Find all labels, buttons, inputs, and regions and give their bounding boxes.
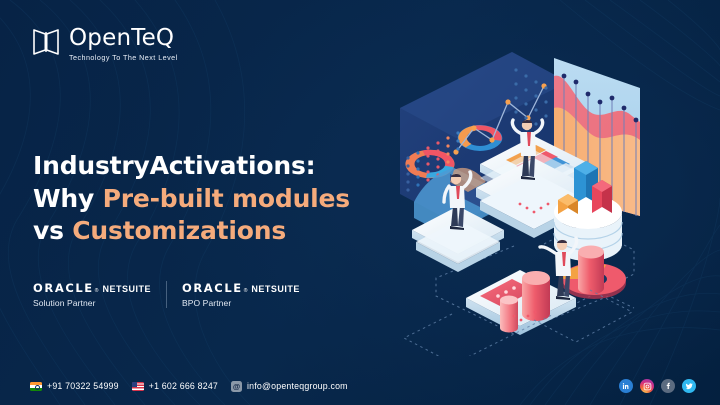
badge-divider	[166, 281, 167, 308]
logo-wordmark: OpenTeQ	[69, 26, 178, 50]
headline-block: IndustryActivations: Why Pre-built modul…	[33, 150, 350, 248]
cylinder-red-tall-back	[578, 246, 604, 295]
cylinder-small-red	[500, 296, 518, 333]
contact-usa[interactable]: +1 602 666 8247	[132, 381, 218, 391]
partner-badges: ORACLE ® NETSUITE Solution Partner ORACL…	[33, 281, 300, 308]
headline-line-1: IndustryActivations:	[33, 150, 350, 183]
contact-email[interactable]: @ info@openteqgroup.com	[231, 381, 348, 392]
headline-line-3: vs Customizations	[33, 215, 350, 248]
partner-badge-bpo: ORACLE ® NETSUITE BPO Partner	[182, 281, 300, 308]
netsuite-wordmark: NETSUITE	[102, 284, 151, 294]
usa-flag-icon	[132, 382, 144, 391]
registered-mark: ®	[244, 288, 248, 294]
lower-platform-group	[466, 246, 604, 336]
oracle-wordmark: ORACLE	[182, 281, 243, 295]
netsuite-wordmark: NETSUITE	[251, 284, 300, 294]
isometric-data-analytics-illustration	[394, 46, 720, 356]
phone-india: +91 70322 54999	[47, 381, 119, 391]
india-flag-icon	[30, 382, 42, 391]
contact-list: +91 70322 54999 +1 602 666 8247 @ info@o…	[30, 381, 348, 392]
partner-badge-solution: ORACLE ® NETSUITE Solution Partner	[33, 281, 151, 308]
oracle-wordmark: ORACLE	[33, 281, 94, 295]
cylinder-large-red	[522, 271, 550, 321]
headline-line-3-accent: Customizations	[72, 216, 286, 245]
linkedin-icon[interactable]	[619, 379, 633, 393]
slide-canvas: OpenTeQ Technology To The Next Level Ind…	[0, 0, 720, 405]
headline-line-3-plain: vs	[33, 216, 72, 245]
logo-tagline: Technology To The Next Level	[69, 53, 178, 62]
badge-logo-row: ORACLE ® NETSUITE	[33, 281, 151, 295]
twitter-icon[interactable]	[682, 379, 696, 393]
badge-subtitle: BPO Partner	[182, 298, 300, 308]
registered-mark: ®	[95, 288, 99, 294]
badge-logo-row: ORACLE ® NETSUITE	[182, 281, 300, 295]
headline-line-2: Why Pre-built modules	[33, 183, 350, 216]
contact-india[interactable]: +91 70322 54999	[30, 381, 119, 391]
openteq-logo[interactable]: OpenTeQ Technology To The Next Level	[32, 26, 178, 62]
footer-bar: +91 70322 54999 +1 602 666 8247 @ info@o…	[0, 367, 720, 405]
instagram-icon[interactable]	[640, 379, 654, 393]
headline-line-2-accent: Pre-built modules	[103, 184, 350, 213]
phone-usa: +1 602 666 8247	[149, 381, 218, 391]
social-links	[619, 379, 696, 393]
email-address: info@openteqgroup.com	[247, 381, 348, 391]
facebook-icon[interactable]	[661, 379, 675, 393]
at-sign-icon: @	[231, 381, 242, 392]
headline-line-2-plain: Why	[33, 184, 103, 213]
openteq-book-mark-icon	[32, 27, 60, 57]
badge-subtitle: Solution Partner	[33, 298, 151, 308]
